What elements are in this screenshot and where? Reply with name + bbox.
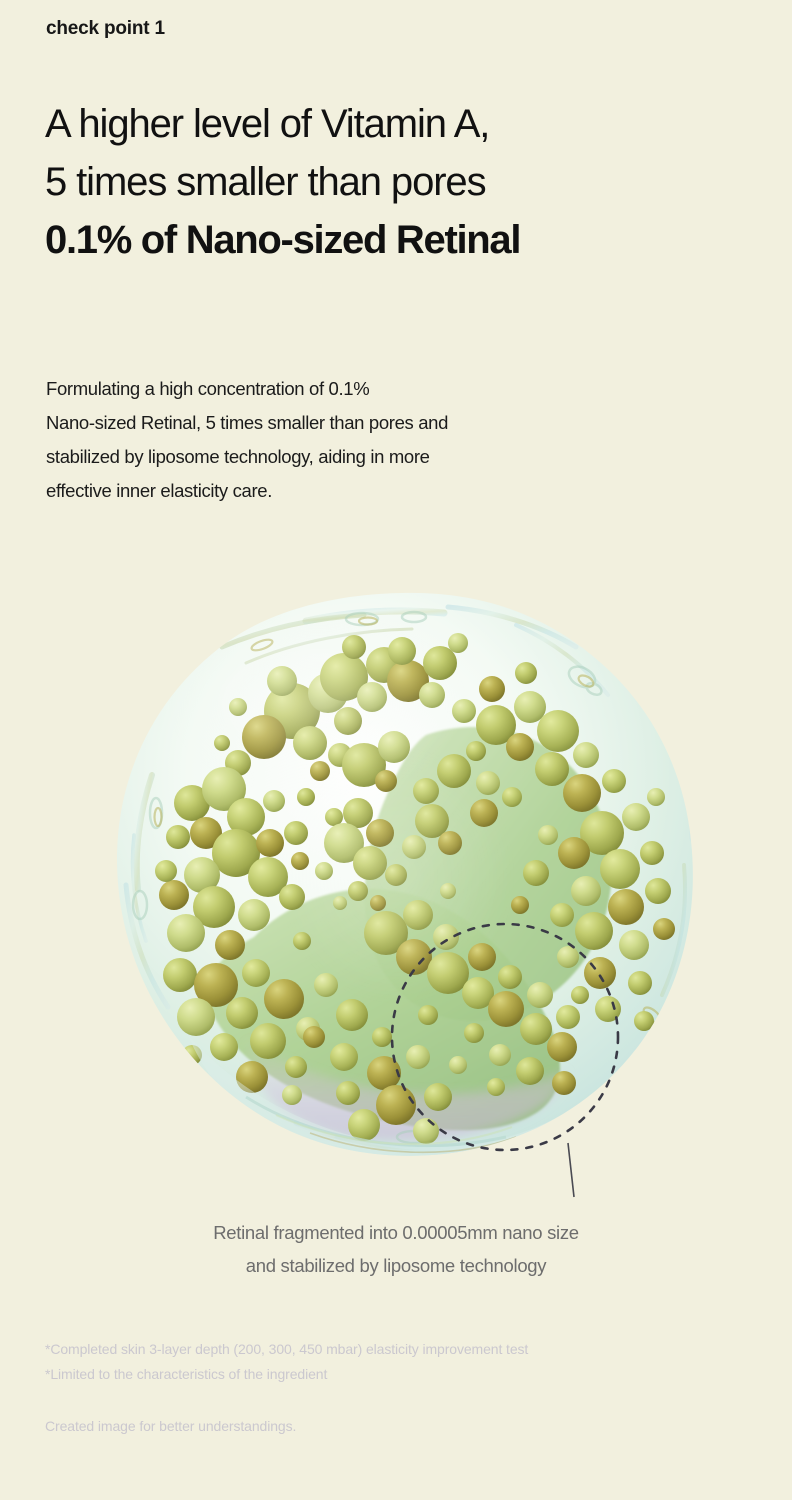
- footnote-line-1: *Completed skin 3-layer depth (200, 300,…: [45, 1337, 528, 1362]
- product-detail-page: check point 1 A higher level of Vitamin …: [0, 0, 792, 1500]
- body-line-1: Formulating a high concentration of 0.1%: [46, 372, 448, 406]
- illustration-caption: Retinal fragmented into 0.00005mm nano s…: [0, 1216, 792, 1282]
- image-credit-note: Created image for better understandings.: [45, 1414, 296, 1439]
- headline-line-2: 5 times smaller than pores: [45, 153, 520, 211]
- body-line-4: effective inner elasticity care.: [46, 474, 448, 508]
- headline-line-3: 0.1% of Nano-sized Retinal: [45, 211, 520, 269]
- caption-line-2: and stabilized by liposome technology: [0, 1249, 792, 1282]
- callout-leader-line: [568, 1143, 574, 1197]
- check-point-eyebrow: check point 1: [46, 18, 165, 41]
- page-title: A higher level of Vitamin A, 5 times sma…: [45, 95, 520, 269]
- footnote-line-2: *Limited to the characteristics of the i…: [45, 1362, 528, 1387]
- caption-line-1: Retinal fragmented into 0.00005mm nano s…: [0, 1216, 792, 1249]
- body-line-2: Nano-sized Retinal, 5 times smaller than…: [46, 406, 448, 440]
- footnotes: *Completed skin 3-layer depth (200, 300,…: [45, 1337, 528, 1387]
- liposome-illustration: [96, 585, 710, 1200]
- headline-line-1: A higher level of Vitamin A,: [45, 95, 520, 153]
- body-copy: Formulating a high concentration of 0.1%…: [46, 372, 448, 508]
- body-line-3: stabilized by liposome technology, aidin…: [46, 440, 448, 474]
